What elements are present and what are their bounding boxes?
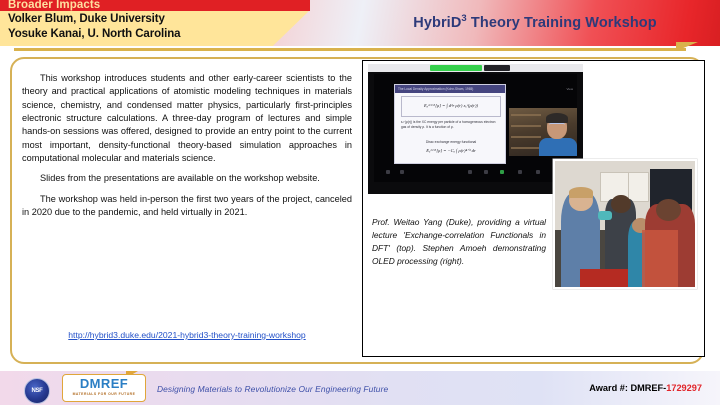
zoom-meeting-screenshot: View The Local Density Approximation (Ko… (368, 64, 583, 194)
photo-cabinet-secondary (628, 172, 650, 202)
paragraph-1: This workshop introduces students and ot… (22, 72, 352, 165)
zoom-record-icon[interactable] (518, 170, 522, 174)
workshop-url-link[interactable]: http://hybrid3.duke.edu/2021-hybrid3-the… (68, 330, 305, 340)
zoom-view-label: View (567, 87, 573, 91)
speaker-webcam-tile (509, 108, 577, 156)
pi-line-2: Yosuke Kanai, U. North Carolina (8, 28, 180, 40)
dmref-logo-tagline: MATERIALS FOR OUR FUTURE (63, 392, 145, 397)
award-number: Award #: DMREF-1729297 (589, 383, 702, 393)
oled-demo-photo (553, 159, 697, 289)
bookshelf-row (511, 125, 541, 127)
section-label: Broader Impacts (8, 0, 100, 11)
slide-equation-1: Eₓᶜᴸᴰᴬ[ρ] = ∫ d³r ρ(r) εₓᶜ(ρ(r)) (402, 103, 500, 108)
zoom-chat-icon[interactable] (484, 170, 488, 174)
bookshelf-row (511, 136, 541, 138)
nsf-logo: NSF (24, 378, 50, 404)
speaker-torso (539, 138, 577, 156)
gold-divider-rule (14, 48, 686, 51)
zoom-share-screen-icon[interactable] (500, 170, 504, 174)
zoom-titlebar-button-group (484, 65, 510, 71)
slide-header: Broader Impacts Volker Blum, Duke Univer… (0, 0, 720, 46)
speaker-hair (546, 113, 568, 123)
paragraph-3: The workshop was held in-person the firs… (22, 193, 352, 220)
dmref-logo-label: DMREF (63, 376, 145, 392)
zoom-window-titlebar (368, 64, 583, 72)
zoom-participants-icon[interactable] (468, 170, 472, 174)
zoom-reactions-icon[interactable] (536, 170, 540, 174)
zoom-recording-indicator (430, 65, 482, 71)
award-prefix: Award #: DMREF- (589, 383, 666, 393)
slide-body-text: εₓᶜ(ρ(r)) is the XC energy per particle … (401, 120, 501, 130)
slide-title: The Local Density Approximation (Kohn-Sh… (395, 85, 505, 93)
slide-equation-box: Eₓᶜᴸᴰᴬ[ρ] = ∫ d³r ρ(r) εₓᶜ(ρ(r)) (401, 96, 501, 117)
bookshelf-row (511, 147, 541, 149)
slide-subheading: Dirac exchange energy functional (401, 140, 501, 144)
footer-tagline: Designing Materials to Revolutionize Our… (157, 384, 388, 394)
page-title: HybriD3 Theory Training Workshop (380, 13, 690, 31)
workshop-link-wrapper: http://hybrid3.duke.edu/2021-hybrid3-the… (22, 325, 352, 343)
zoom-video-icon[interactable] (400, 170, 404, 174)
dmref-logo: DMREF MATERIALS FOR OUR FUTURE (62, 374, 146, 402)
bookshelf-row (511, 114, 541, 116)
shared-presentation-slide: The Local Density Approximation (Kohn-Sh… (394, 84, 506, 164)
photo-person-demonstrator-head (611, 195, 631, 213)
zoom-share-stage: View The Local Density Approximation (Ko… (374, 74, 577, 182)
zoom-mute-icon[interactable] (386, 170, 390, 174)
nsf-logo-label: NSF (31, 388, 42, 394)
paragraph-2: Slides from the presentations are availa… (22, 172, 352, 185)
award-number-value: 1729297 (666, 383, 702, 393)
page-title-main: HybriD (413, 15, 461, 31)
speaker-glasses (549, 123, 565, 128)
photo-person-right-scarf (642, 230, 678, 287)
media-caption: Prof. Weitao Yang (Duke), providing a vi… (372, 216, 546, 268)
slide-equation-2: Eₓᴸᴰᴬ[ρ] = −Cₓ ∫ ρ(r)⁴ᐟ³ dr (401, 148, 501, 154)
page-title-rest: Theory Training Workshop (467, 15, 657, 31)
photo-blue-glove (598, 211, 612, 220)
gold-arrow-icon (676, 42, 698, 51)
photo-floor-red (580, 269, 628, 287)
body-text-column: This workshop introduces students and ot… (22, 72, 352, 226)
pi-line-1: Volker Blum, Duke University (8, 13, 165, 25)
photo-person-left-hair (569, 187, 593, 197)
